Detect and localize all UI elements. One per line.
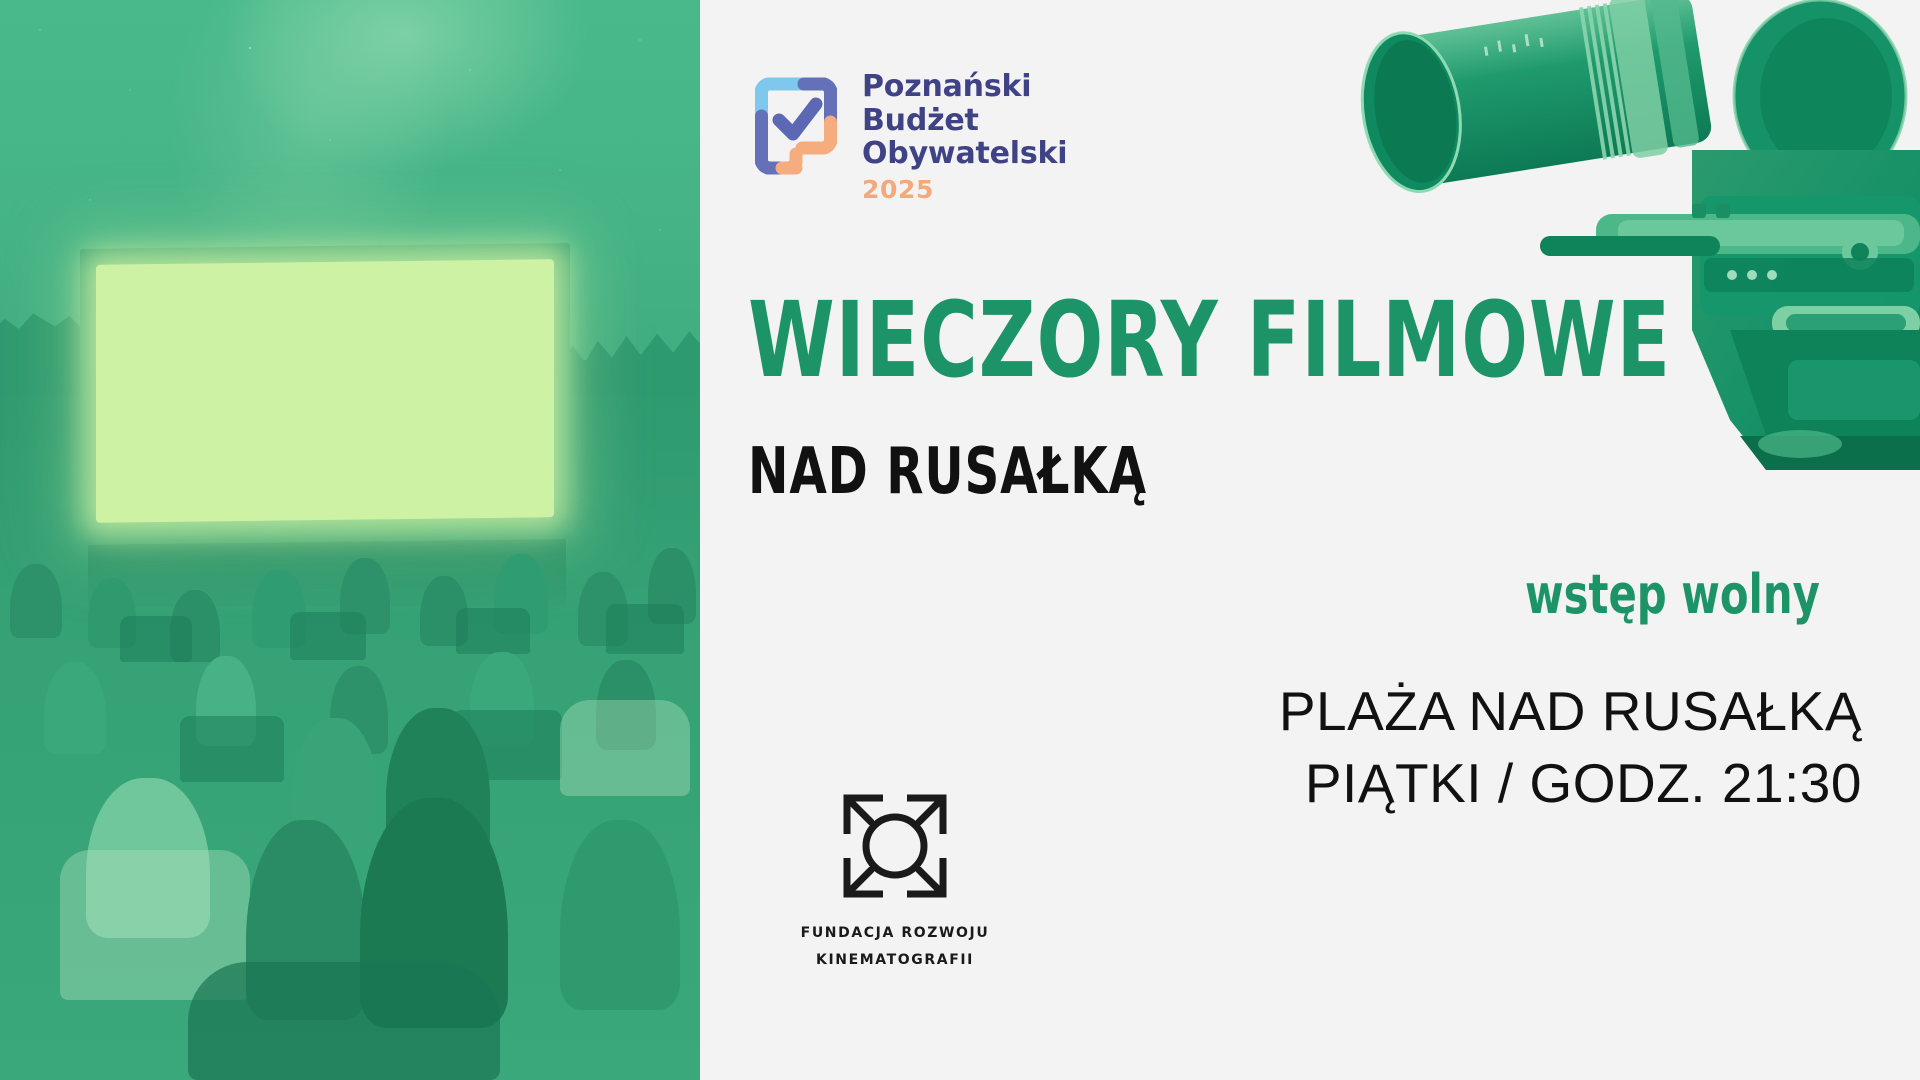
outdoor-cinema-photo xyxy=(0,0,700,1080)
audience-member xyxy=(44,662,106,754)
event-title: WIECZORY FILMOWE xyxy=(748,288,1671,392)
venue-place: PLAŻA NAD RUSAŁKĄ xyxy=(1279,676,1862,748)
foundation-name-line-1: FUNDACJA ROZWOJU xyxy=(780,920,1010,947)
pbo-year: 2025 xyxy=(862,171,1067,204)
camping-chair xyxy=(180,716,284,782)
camping-chair xyxy=(456,608,530,654)
cinema-screen-surface xyxy=(96,259,554,523)
foundation-name: FUNDACJA ROZWOJU KINEMATOGRAFII xyxy=(780,920,1010,973)
audience-crowd xyxy=(0,520,700,1080)
ballot-check-icon xyxy=(748,62,844,190)
free-entry-label: wstęp wolny xyxy=(1525,568,1820,622)
camping-chair xyxy=(290,612,366,660)
pbo-logo-text: Poznański Budżet Obywatelski 2025 xyxy=(862,62,1067,204)
content-panel: Poznański Budżet Obywatelski 2025 WIECZO… xyxy=(700,0,1920,1080)
venue-schedule: PIĄTKI / GODZ. 21:30 xyxy=(1279,748,1862,820)
foundation-name-line-2: KINEMATOGRAFII xyxy=(780,947,1010,974)
venue-details: PLAŻA NAD RUSAŁKĄ PIĄTKI / GODZ. 21:30 xyxy=(1279,676,1862,819)
pbo-line-3: Obywatelski xyxy=(862,137,1067,171)
audience-member xyxy=(10,564,62,638)
pbo-line-1: Poznański xyxy=(862,70,1067,104)
pbo-line-2: Budżet xyxy=(862,104,1067,138)
poster-canvas: Poznański Budżet Obywatelski 2025 WIECZO… xyxy=(0,0,1920,1080)
poznanski-budzet-obywatelski-logo: Poznański Budżet Obywatelski 2025 xyxy=(748,62,1067,204)
fundacja-rozwoju-kinematografii-logo: FUNDACJA ROZWOJU KINEMATOGRAFII xyxy=(780,790,1010,973)
audience-member-foreground xyxy=(560,820,680,1010)
framed-circle-icon xyxy=(839,790,951,902)
cinema-camera-illustration xyxy=(1300,0,1920,510)
picnic-blanket xyxy=(560,700,690,796)
camping-chair xyxy=(120,616,192,662)
camping-chair xyxy=(606,604,684,654)
camping-chair-foreground xyxy=(188,962,500,1080)
event-subtitle: NAD RUSAŁKĄ xyxy=(748,440,1147,504)
